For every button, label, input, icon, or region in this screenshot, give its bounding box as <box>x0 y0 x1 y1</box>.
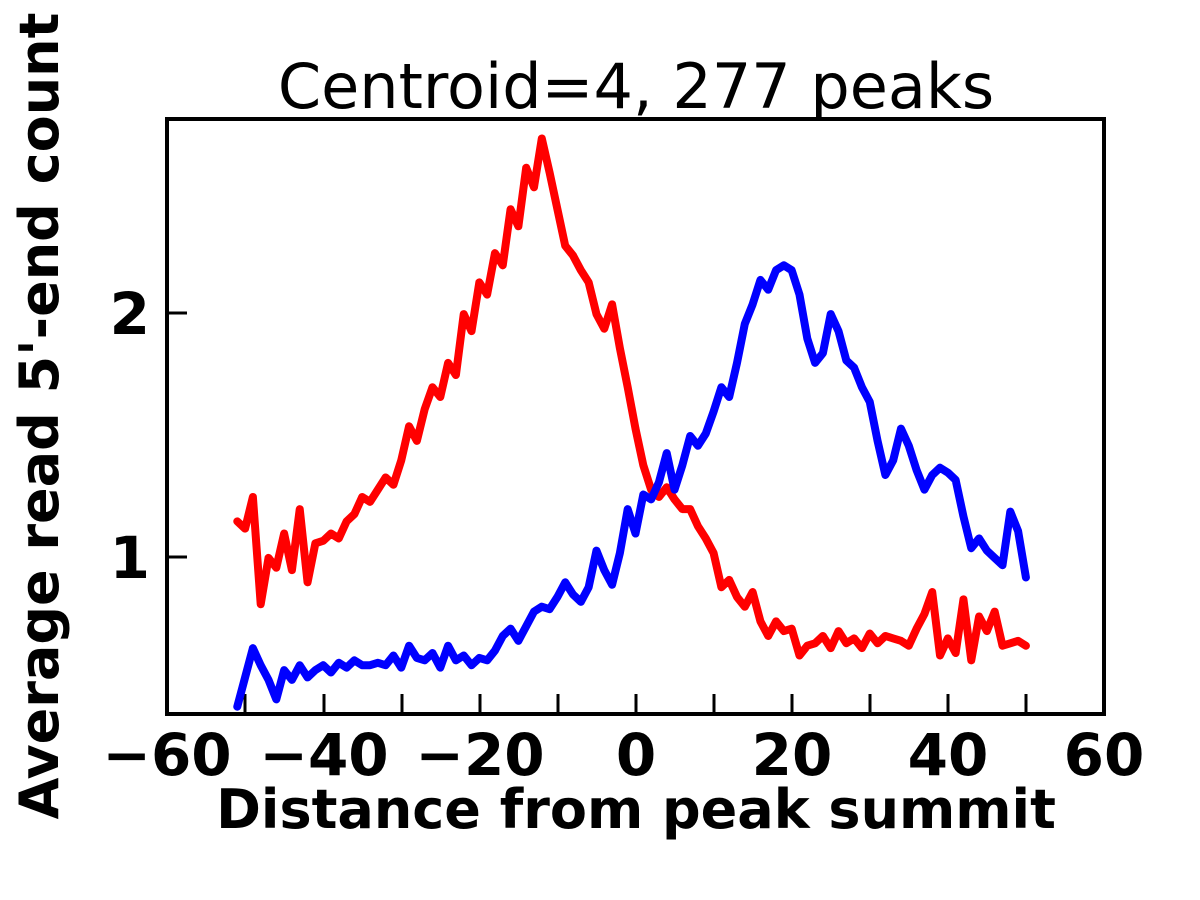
y-axis-ticks <box>167 313 187 557</box>
x-axis-ticks <box>167 694 1104 714</box>
y-axis-tick-labels: 1 2 <box>110 280 150 592</box>
x-tick-label: −60 <box>102 721 231 789</box>
y-axis-title: Average read 5'-end count <box>8 13 71 820</box>
y-tick-label: 1 <box>110 524 150 592</box>
series-group <box>237 139 1026 707</box>
x-axis-title: Distance from peak summit <box>216 778 1056 841</box>
x-tick-label: 60 <box>1064 721 1145 789</box>
figure-canvas: Centroid=4, 277 peaks −60 −40 −20 0 20 4… <box>0 0 1200 900</box>
series-line-forward-strand <box>237 139 1026 661</box>
chart-title: Centroid=4, 277 peaks <box>278 50 994 123</box>
y-tick-label: 2 <box>110 280 150 348</box>
line-chart: Centroid=4, 277 peaks −60 −40 −20 0 20 4… <box>0 0 1200 900</box>
